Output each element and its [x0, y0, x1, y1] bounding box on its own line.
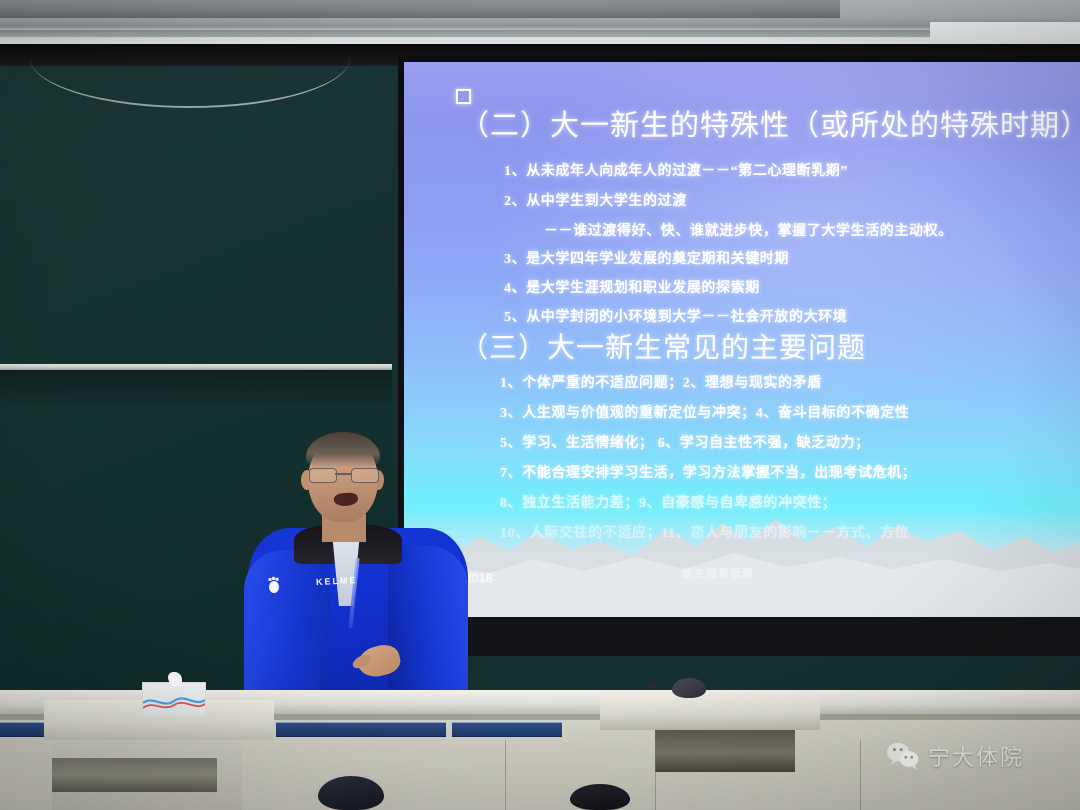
wechat-account-name: 宁大体院 — [928, 740, 1024, 772]
slide-line: 5、学习、生活情绪化； 6、学习自主性不强，缺乏动力； — [500, 432, 870, 452]
mouse-shelf — [600, 690, 820, 730]
glasses-bridge — [335, 473, 351, 475]
ceiling — [0, 0, 1080, 44]
desk-trim-center — [276, 722, 446, 737]
glasses-icon — [307, 468, 380, 482]
shelf-keyboard-slot[interactable] — [655, 730, 795, 772]
glasses-lens-left — [309, 468, 337, 483]
wechat-watermark: 宁大体院 — [886, 740, 1024, 772]
tissue-box[interactable] — [142, 682, 206, 716]
wechat-icon — [886, 741, 920, 771]
slide-footer: 新生教育管理 — [682, 565, 754, 581]
slide-line: 1、个体严重的不适应问题；2、理想与现实的矛盾 — [500, 372, 822, 392]
slide-heading-two: （三）大一新生常见的主要问题 — [460, 326, 1060, 366]
desk-panel-seam — [860, 740, 861, 810]
tissue-box-pattern-icon — [143, 693, 205, 711]
ceiling-lip — [0, 30, 1080, 37]
ceiling-beam — [0, 0, 840, 18]
speaker-person: KELME — [248, 428, 468, 733]
slide-line: 3、是大学四年学业发展的奠定期和关键时期 — [504, 248, 789, 268]
slide-line: 10、人际交往的不适应；11、恋人与朋友的影响－－方式、方位 — [500, 522, 909, 542]
desk-panel-seam — [655, 740, 656, 810]
slide-heading-one: （二）大一新生的特殊性（或所处的特殊时期） — [460, 102, 1060, 144]
slide-line: 7、不能合理安排学习生活，学习方法掌握不当，出现考试危机； — [500, 462, 916, 482]
slide-line: 2、从中学生到大学生的过渡 — [504, 190, 687, 210]
student-head — [570, 784, 630, 810]
slide-line: 3、人生观与价值观的重新定位与冲突；4、奋斗目标的不确定性 — [500, 402, 909, 422]
lecture-hall-photo: THREE （二）大一新生的特殊性（或所处的特殊时期） 1、从未成年人向成年人的… — [0, 0, 1080, 810]
slide-line: －－谁过渡得好、快、谁就进步快，掌握了大学生活的主动权。 — [544, 220, 953, 240]
glasses-lens-right — [351, 468, 379, 483]
slide-line: 5、从中学封闭的小环境到大学－－社会开放的大环境 — [504, 306, 847, 326]
podium-keyboard-tray[interactable] — [52, 758, 217, 792]
presentation-slide: （二）大一新生的特殊性（或所处的特殊时期） 1、从未成年人向成年人的过渡－－“第… — [404, 62, 1080, 617]
hair — [306, 432, 380, 468]
kelme-foot-badge-icon — [266, 576, 282, 594]
slide-line: 4、是大学生涯规划和职业发展的探索期 — [504, 277, 760, 297]
blackboard-shadow — [0, 370, 392, 410]
desk-trim-right — [452, 722, 562, 737]
shelf-port — [649, 684, 656, 689]
student-head — [318, 776, 384, 810]
computer-mouse[interactable] — [672, 678, 706, 698]
slide-line: 1、从未成年人向成年人的过渡－－“第二心理断乳期” — [504, 160, 848, 180]
slide-text-layer: （二）大一新生的特殊性（或所处的特殊时期） 1、从未成年人向成年人的过渡－－“第… — [404, 62, 1080, 617]
slide-line: 8、独立生活能力差；9、自豪感与自卑感的冲突性； — [500, 492, 836, 512]
desk-panel-seam — [505, 740, 506, 810]
